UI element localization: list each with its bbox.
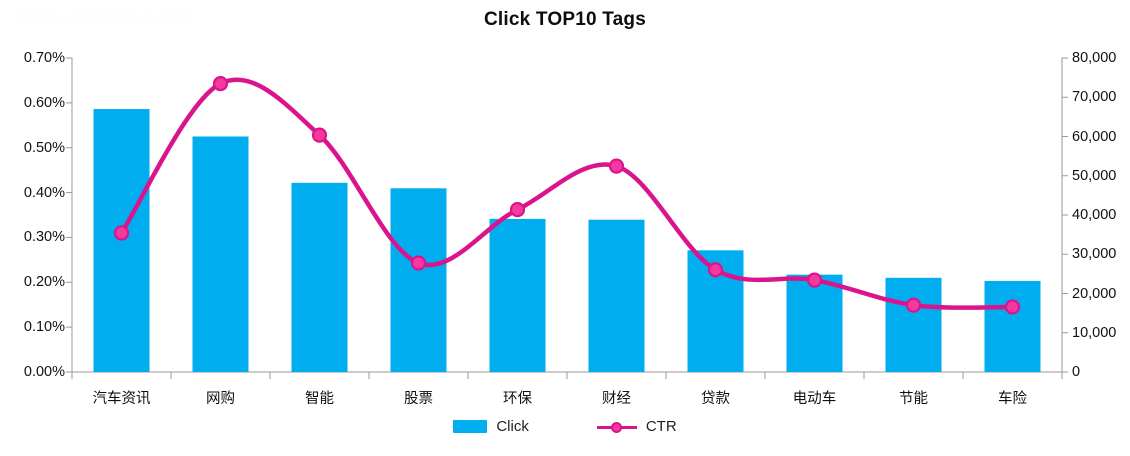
y-left-tick-1: 0.10% (24, 319, 65, 335)
y-right-tick-2: 20,000 (1072, 286, 1116, 302)
bar-智能 (292, 183, 348, 372)
x-tick-label-2: 智能 (305, 387, 334, 408)
legend-line-swatch-icon (597, 421, 637, 433)
bar-节能 (886, 278, 942, 372)
y-right-tick-1: 10,000 (1072, 325, 1116, 341)
x-tick-label-6: 贷款 (701, 387, 730, 408)
legend-item-ctr[interactable]: CTR (597, 418, 677, 435)
y-left-tick-5: 0.50% (24, 140, 65, 156)
ctr-marker-车险 (1006, 300, 1019, 313)
y-left-tick-2: 0.20% (24, 274, 65, 290)
ctr-marker-环保 (511, 203, 524, 216)
x-tick-label-1: 网购 (206, 387, 235, 408)
chart-legend: ClickCTR (0, 418, 1130, 435)
y-left-tick-4: 0.40% (24, 185, 65, 201)
ctr-marker-电动车 (808, 274, 821, 287)
legend-item-click[interactable]: Click (453, 418, 529, 435)
chart-line-markers (115, 77, 1019, 313)
x-tick-label-0: 汽车资讯 (93, 387, 151, 408)
x-tick-label-7: 电动车 (793, 387, 837, 408)
x-tick-label-5: 财经 (602, 387, 631, 408)
bar-电动车 (787, 275, 843, 372)
ctr-marker-节能 (907, 299, 920, 312)
chart-line-ctr (122, 80, 1013, 308)
legend-line-dot-icon (611, 422, 622, 433)
y-left-tick-7: 0.70% (24, 50, 65, 66)
chart-page: 数据分析报告图表示例 Click TOP10 Tags 0.00%0.10%0.… (0, 0, 1130, 456)
y-right-tick-7: 70,000 (1072, 89, 1116, 105)
x-tick-label-4: 环保 (503, 387, 532, 408)
x-tick-label-9: 车险 (998, 387, 1027, 408)
ctr-marker-贷款 (709, 263, 722, 276)
ctr-marker-股票 (412, 256, 425, 269)
ctr-marker-智能 (313, 129, 326, 142)
x-tick-label-8: 节能 (899, 387, 928, 408)
bar-股票 (391, 188, 447, 372)
bar-网购 (193, 137, 249, 373)
legend-bar-swatch-icon (453, 420, 487, 433)
y-right-tick-5: 50,000 (1072, 168, 1116, 184)
y-right-tick-4: 40,000 (1072, 207, 1116, 223)
y-left-tick-0: 0.00% (24, 364, 65, 380)
ctr-marker-网购 (214, 77, 227, 90)
ctr-marker-汽车资讯 (115, 226, 128, 239)
ctr-marker-财经 (610, 160, 623, 173)
chart-plot-area (0, 0, 1130, 456)
y-right-tick-0: 0 (1072, 364, 1080, 380)
legend-label: Click (496, 418, 529, 435)
ctr-line (122, 80, 1013, 308)
x-tick-label-3: 股票 (404, 387, 433, 408)
bar-车险 (985, 281, 1041, 372)
y-left-tick-3: 0.30% (24, 229, 65, 245)
legend-label: CTR (646, 418, 677, 435)
y-right-tick-8: 80,000 (1072, 50, 1116, 66)
bar-环保 (490, 219, 546, 372)
bar-财经 (589, 220, 645, 372)
y-right-tick-6: 60,000 (1072, 129, 1116, 145)
chart-bars (94, 109, 1041, 372)
y-left-tick-6: 0.60% (24, 95, 65, 111)
y-right-tick-3: 30,000 (1072, 246, 1116, 262)
